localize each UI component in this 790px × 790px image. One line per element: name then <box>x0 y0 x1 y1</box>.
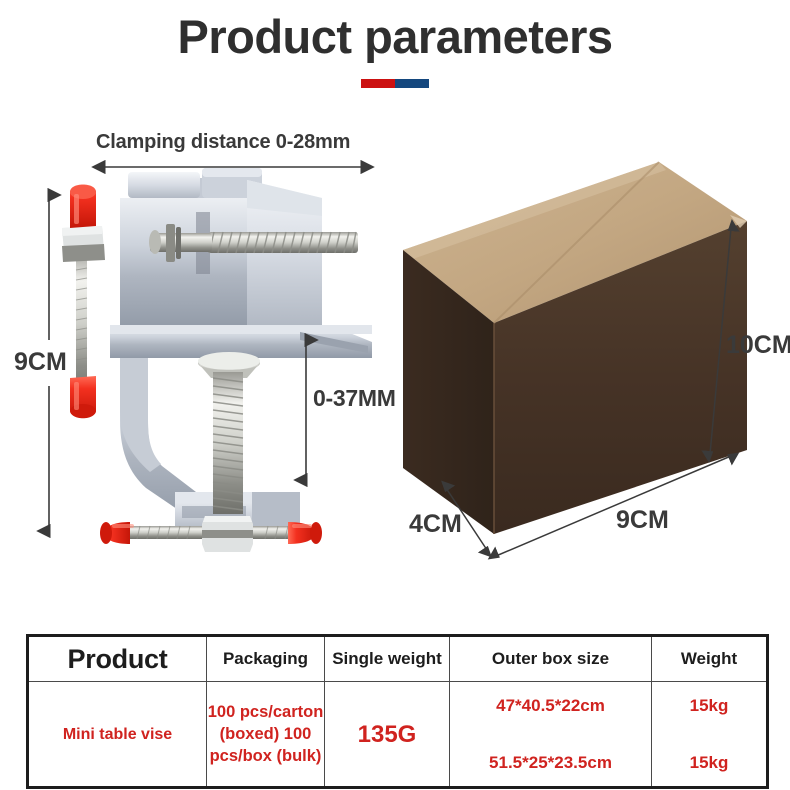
column-header-single-weight: Single weight <box>325 636 450 682</box>
product-parameters-table: Product Packaging Single weight Outer bo… <box>26 634 769 789</box>
jaw-opening-label: 0-37MM <box>313 385 396 412</box>
carton-depth-arrow <box>438 482 498 557</box>
weight-line-1: 15kg <box>652 695 766 716</box>
cell-single-weight: 135G <box>325 682 450 788</box>
vise-height-arrow <box>40 190 58 536</box>
carton-width-arrow <box>488 450 738 565</box>
column-header-product: Product <box>28 636 207 682</box>
clamping-distance-label: Clamping distance 0-28mm <box>96 131 350 154</box>
column-header-packaging: Packaging <box>207 636 325 682</box>
table-header-row: Product Packaging Single weight Outer bo… <box>28 636 768 682</box>
column-header-outer-box-size: Outer box size <box>450 636 652 682</box>
cell-outer-box-size: 47*40.5*22cm 51.5*25*23.5cm <box>450 682 652 788</box>
divider-segment-red <box>361 79 395 88</box>
divider-segment-blue <box>395 79 429 88</box>
title-divider <box>361 79 429 88</box>
column-header-weight: Weight <box>652 636 768 682</box>
carton-height-arrow <box>700 222 740 462</box>
weight-line-2: 15kg <box>652 752 766 773</box>
page-title: Product parameters <box>0 8 790 66</box>
table-row: Mini table vise 100 pcs/carton (boxed) 1… <box>28 682 768 788</box>
cell-product: Mini table vise <box>28 682 207 788</box>
outer-box-size-line-2: 51.5*25*23.5cm <box>450 752 651 773</box>
clamping-distance-arrow <box>100 158 366 176</box>
cell-packaging: 100 pcs/carton (boxed) 100 pcs/box (bulk… <box>207 682 325 788</box>
cell-weight: 15kg 15kg <box>652 682 768 788</box>
outer-box-size-line-1: 47*40.5*22cm <box>450 695 651 716</box>
jaw-opening-arrow <box>297 335 315 485</box>
